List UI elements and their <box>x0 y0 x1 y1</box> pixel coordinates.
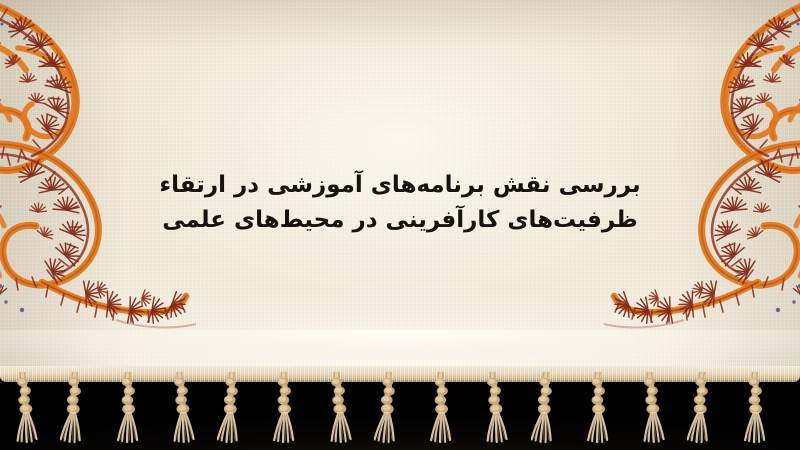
tassel <box>687 372 717 444</box>
tassel <box>322 372 352 444</box>
tassel <box>8 372 38 444</box>
tassel <box>217 372 247 444</box>
tassel-fringe <box>0 366 800 450</box>
tassel <box>60 372 90 444</box>
tassel <box>740 372 770 444</box>
tassel <box>531 372 561 444</box>
tassel <box>269 372 299 444</box>
tassel <box>583 372 613 444</box>
title-line-2: ظرفیت‌های کارآفرینی در محیط‌های علمی <box>0 203 800 238</box>
title-slide: بررسی نقش برنامه‌های آموزشی در ارتقاء ظر… <box>0 0 800 450</box>
title-line-1: بررسی نقش برنامه‌های آموزشی در ارتقاء <box>0 168 800 203</box>
tassel <box>478 372 508 444</box>
tassel <box>165 372 195 444</box>
tassel <box>113 372 143 444</box>
slide-title: بررسی نقش برنامه‌های آموزشی در ارتقاء ظر… <box>0 168 800 238</box>
tassel <box>426 372 456 444</box>
tassel <box>635 372 665 444</box>
tassel <box>374 372 404 444</box>
